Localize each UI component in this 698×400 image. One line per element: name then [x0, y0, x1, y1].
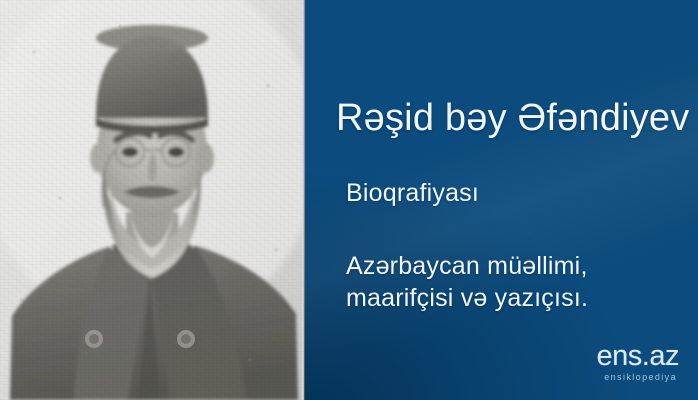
- subtitle: Bioqrafiyası: [346, 178, 479, 208]
- site-logo-name: ens.az: [597, 341, 679, 371]
- description-line-1: Azərbaycan müəllimi,: [346, 250, 588, 282]
- info-panel: Rəşid bəy Əfəndiyev Bioqrafiyası Azərbay…: [304, 0, 698, 400]
- site-logo-tagline: ensiklopediya: [597, 372, 677, 383]
- site-logo[interactable]: ens.az ensiklopediya: [597, 341, 679, 383]
- description: Azərbaycan müəllimi, maarifçisi və yazıç…: [346, 250, 588, 314]
- portrait-illustration: [0, 0, 304, 400]
- article-banner-card: Rəşid bəy Əfəndiyev Bioqrafiyası Azərbay…: [0, 0, 698, 400]
- portrait-photo: [0, 0, 304, 400]
- page-title: Rəşid bəy Əfəndiyev: [336, 96, 698, 140]
- description-line-2: maarifçisi və yazıçısı.: [346, 282, 588, 314]
